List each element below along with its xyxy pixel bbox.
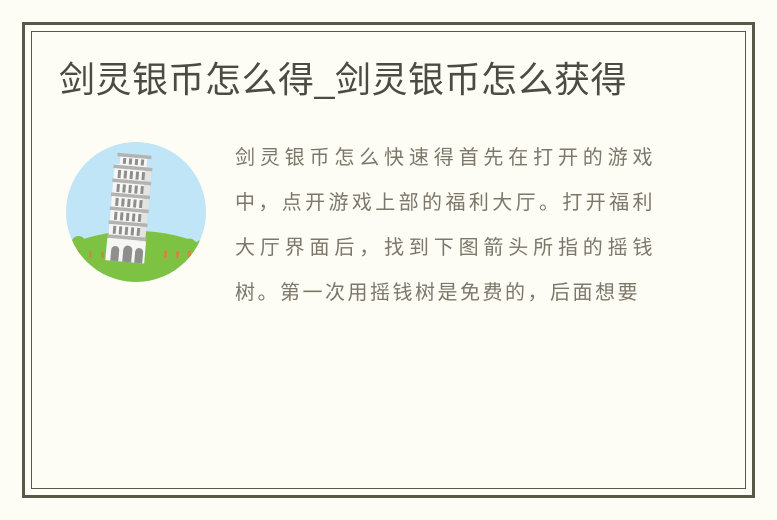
article-content: 剑灵银币怎么得_剑灵银币怎么获得 bbox=[31, 31, 746, 489]
leaning-tower-of-pisa-icon bbox=[65, 141, 207, 283]
article-body-text: 剑灵银币怎么快速得首先在打开的游戏中，点开游戏上部的福利大厅。打开福利大厅界面后… bbox=[235, 135, 655, 315]
page-title: 剑灵银币怎么得_剑灵银币怎么获得 bbox=[59, 55, 659, 105]
article-page: 剑灵银币怎么得_剑灵银币怎么获得 bbox=[0, 0, 777, 520]
article-body: 剑灵银币怎么快速得首先在打开的游戏中，点开游戏上部的福利大厅。打开福利大厅界面后… bbox=[59, 135, 718, 315]
